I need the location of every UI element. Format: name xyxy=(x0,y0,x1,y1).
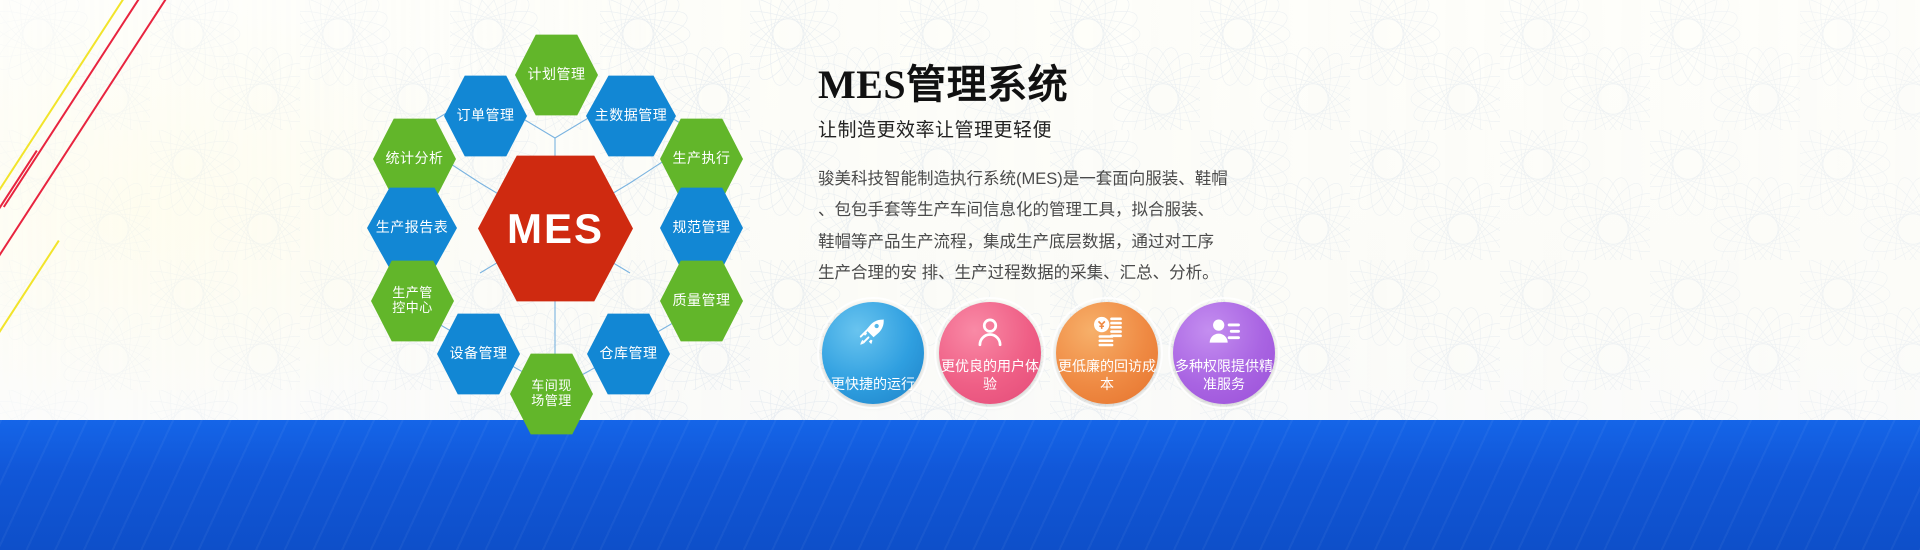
page-subtitle: 让制造更效率让管理更轻便 xyxy=(818,115,1888,142)
feature-badge-lower-cost[interactable]: 更低廉的回访成本 xyxy=(1056,302,1158,404)
hexagon-label-4: 生产执行 xyxy=(667,151,737,167)
feature-badge-faster-operation[interactable]: 更快捷的运行 xyxy=(822,302,924,404)
coin-stack-icon xyxy=(1090,315,1124,349)
mes-hexagon-diagram: MES 计划管理 订单管理 主数据管理 统计分析 生产执行 生产报告表 规范管理 xyxy=(330,18,790,438)
banner-text-panel: MES管理系统 让制造更效率让管理更轻便 骏美科技智能制造执行系统(MES)是一… xyxy=(818,52,1888,289)
hexagon-center-label: MES xyxy=(501,205,610,252)
hexagon-label-3: 统计分析 xyxy=(380,151,450,167)
hexagon-label-10: 车间现场管理 xyxy=(525,379,579,408)
user-icon xyxy=(973,315,1007,349)
description-line-0: 骏美科技智能制造执行系统(MES)是一套面向服装、鞋帽 xyxy=(818,164,1268,195)
badge-label: 更快捷的运行 xyxy=(831,376,915,394)
hexagon-label-9: 设备管理 xyxy=(444,346,514,362)
hexagon-label-11: 仓库管理 xyxy=(594,346,664,362)
hexagon-label-8: 质量管理 xyxy=(667,293,737,309)
hexagon-label-5: 生产报告表 xyxy=(370,220,455,236)
description-line-1: 、包包手套等生产车间信息化的管理工具，拟合服装、 xyxy=(818,195,1268,226)
user-permissions-icon xyxy=(1207,315,1241,349)
hexagon-label-2: 主数据管理 xyxy=(589,108,674,124)
description-paragraph: 骏美科技智能制造执行系统(MES)是一套面向服装、鞋帽 、包包手套等生产车间信息… xyxy=(818,164,1268,289)
hexagon-label-0: 计划管理 xyxy=(522,67,592,83)
badge-label: 多种权限提供精准服务 xyxy=(1173,358,1275,393)
rocket-icon xyxy=(856,315,890,349)
feature-badge-list: 更快捷的运行 更优良的用户体验 xyxy=(822,302,1275,404)
badge-label: 更优良的用户体验 xyxy=(939,358,1041,393)
description-line-2: 鞋帽等产品生产流程，集成生产底层数据，通过对工序 xyxy=(818,227,1268,258)
hexagon-label-1: 订单管理 xyxy=(451,108,521,124)
badge-label: 更低廉的回访成本 xyxy=(1056,358,1158,393)
description-line-3: 生产合理的安 排、生产过程数据的采集、汇总、分析。 xyxy=(818,258,1268,289)
banner-stage: MES 计划管理 订单管理 主数据管理 统计分析 生产执行 生产报告表 规范管理 xyxy=(0,0,1920,550)
page-title: MES管理系统 xyxy=(818,52,1888,110)
feature-badge-permissions[interactable]: 多种权限提供精准服务 xyxy=(1173,302,1275,404)
hexagon-label-7: 生产管控中心 xyxy=(385,286,441,315)
feature-badge-better-ux[interactable]: 更优良的用户体验 xyxy=(939,302,1041,404)
background-blue-band xyxy=(0,420,1920,550)
hexagon-label-6: 规范管理 xyxy=(667,220,737,236)
